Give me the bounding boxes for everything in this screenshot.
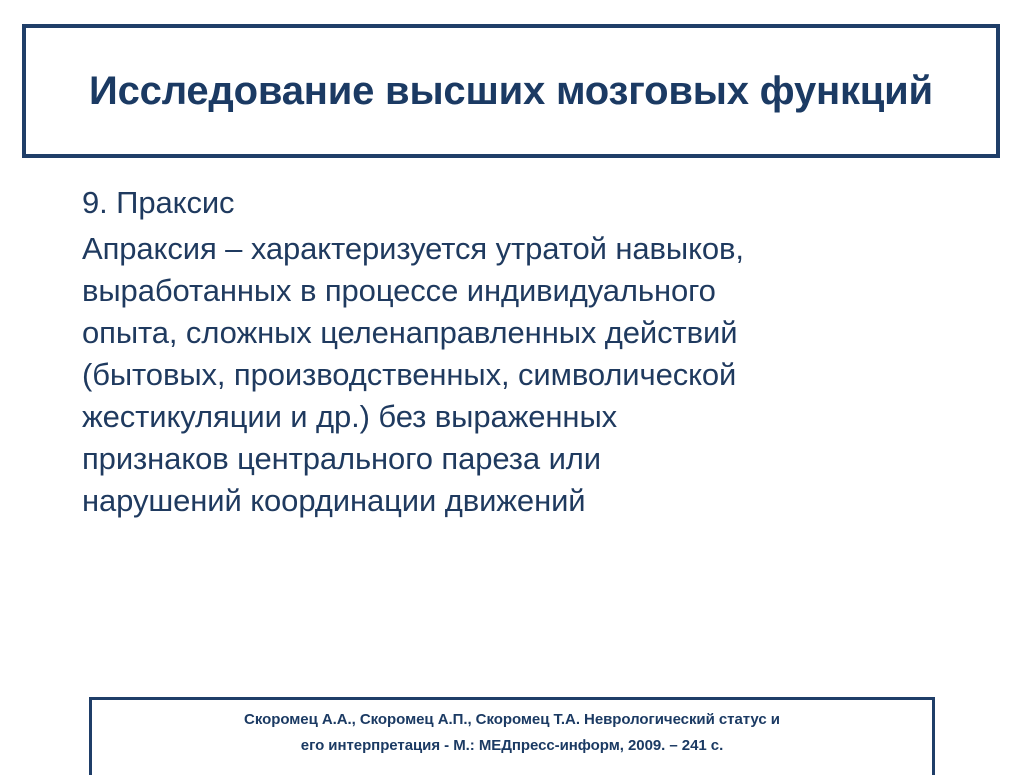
slide-canvas: Исследование высших мозговых функций 9. … <box>0 0 1024 767</box>
citation-frame: Скоромец А.А., Скоромец А.П., Скоромец Т… <box>89 697 935 775</box>
page-title: Исследование высших мозговых функций <box>89 70 933 112</box>
slide-body: 9. Праксис Апраксия – характеризуется ут… <box>82 182 962 522</box>
body-heading: 9. Праксис <box>82 182 962 224</box>
body-paragraph-line: (бытовых, производственных, символическо… <box>82 354 962 396</box>
body-paragraph-line: Апраксия – характеризуется утратой навык… <box>82 228 962 270</box>
body-paragraph-line: жестикуляции и др.) без выраженных <box>82 396 962 438</box>
slide-title-frame: Исследование высших мозговых функций <box>22 24 1000 158</box>
citation-line: его интерпретация - М.: МЕДпресс-информ,… <box>92 733 932 759</box>
citation-line: Скоромец А.А., Скоромец А.П., Скоромец Т… <box>92 707 932 733</box>
body-paragraph-line: признаков центрального пареза или <box>82 438 962 480</box>
body-paragraph-line: нарушений координации движений <box>82 480 962 522</box>
body-paragraph-line: опыта, сложных целенаправленных действий <box>82 312 962 354</box>
body-paragraph-line: выработанных в процессе индивидуального <box>82 270 962 312</box>
